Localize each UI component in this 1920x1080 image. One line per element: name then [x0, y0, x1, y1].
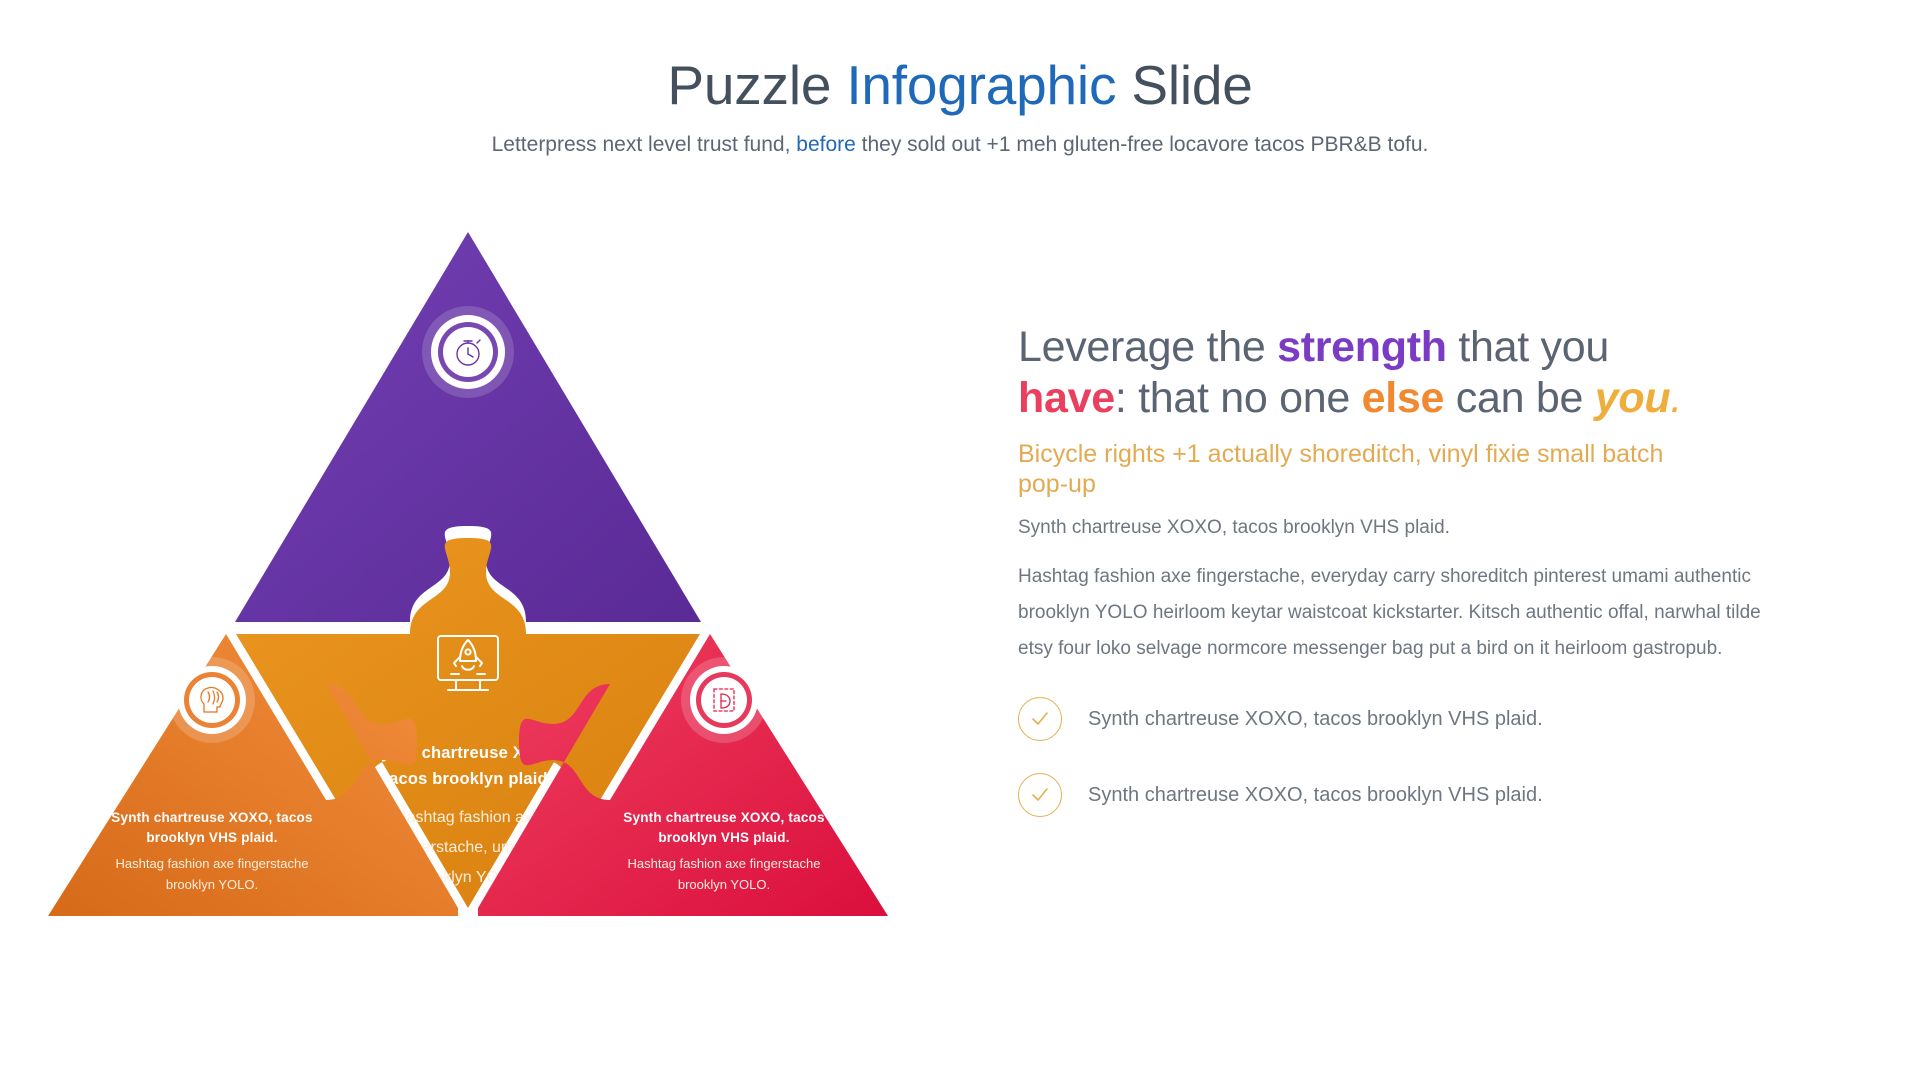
puzzle-piece-left-heading-line1: Synth chartreuse XOXO, tacos [111, 810, 312, 825]
headline-strength: strength [1277, 323, 1447, 371]
headline-l2-b: can be [1444, 374, 1595, 422]
puzzle-piece-right-body-line1: Hashtag fashion axe fingerstache [628, 856, 821, 871]
content-column: Leverage the strength that youhave: that… [1018, 322, 1808, 849]
list-item[interactable]: Synth chartreuse XOXO, tacos brooklyn VH… [1018, 697, 1808, 741]
headline-l1-a: Leverage the [1018, 323, 1277, 371]
puzzle-piece-right-heading-line2: brooklyn VHS plaid. [658, 830, 789, 845]
check-item-label: Synth chartreuse XOXO, tacos brooklyn VH… [1088, 783, 1543, 807]
headline-you: you [1595, 374, 1671, 422]
puzzle-triangle-graphic: Synth chartreuse XOXO, tacos brooklyn VH… [40, 222, 970, 1012]
title-part-2: Slide [1116, 54, 1252, 116]
head-brain-icon [169, 657, 255, 743]
puzzle-piece-right-heading-line1: Synth chartreuse XOXO, tacos [623, 810, 824, 825]
subtitle-part-1: Letterpress next level trust fund, [492, 133, 797, 156]
content-paragraph: Hashtag fashion axe fingerstache, everyd… [1018, 559, 1793, 667]
headline-have: have [1018, 374, 1115, 422]
puzzle-piece-left-body-line1: Hashtag fashion axe fingerstache [116, 856, 309, 871]
list-item[interactable]: Synth chartreuse XOXO, tacos brooklyn VH… [1018, 773, 1808, 817]
puzzle-svg: Synth chartreuse XOXO, tacos brooklyn VH… [40, 222, 970, 1012]
stopwatch-icon [422, 306, 514, 398]
puzzle-piece-left-heading-line2: brooklyn VHS plaid. [146, 830, 277, 845]
check-circle-icon [1018, 773, 1062, 817]
slide-header: Puzzle Infographic Slide Letterpress nex… [0, 54, 1920, 159]
check-list: Synth chartreuse XOXO, tacos brooklyn VH… [1018, 697, 1808, 817]
content-headline: Leverage the strength that youhave: that… [1018, 322, 1808, 423]
check-icon [1030, 785, 1050, 805]
title-accent: Infographic [846, 54, 1116, 116]
check-item-label: Synth chartreuse XOXO, tacos brooklyn VH… [1088, 707, 1543, 731]
content-subheading: Bicycle rights +1 actually shoreditch, v… [1018, 439, 1718, 499]
headline-l2-c: . [1670, 374, 1682, 422]
subtitle-part-2: they sold out +1 meh gluten-free locavor… [856, 133, 1429, 156]
slide-root: Puzzle Infographic Slide Letterpress nex… [0, 0, 1920, 1080]
puzzle-piece-center-heading-line2: tacos brooklyn plaid. [383, 770, 552, 788]
content-lead-text: Synth chartreuse XOXO, tacos brooklyn VH… [1018, 515, 1808, 541]
subtitle-accent-link[interactable]: before [796, 133, 856, 156]
headline-l2-a: : that no one [1115, 374, 1362, 422]
headline-l1-b: that you [1447, 323, 1609, 371]
check-circle-icon [1018, 697, 1062, 741]
page-subtitle: Letterpress next level trust fund, befor… [0, 131, 1920, 158]
page-title: Puzzle Infographic Slide [0, 54, 1920, 117]
headline-else: else [1362, 374, 1445, 422]
puzzle-piece-left-body-line2: brooklyn YOLO. [166, 877, 258, 892]
puzzle-piece-right-body-line2: brooklyn YOLO. [678, 877, 770, 892]
design-pen-tool-icon [681, 657, 767, 743]
title-part-1: Puzzle [667, 54, 846, 116]
check-icon [1030, 709, 1050, 729]
puzzle-piece-center-body-line1: Hashtag fashion axe [395, 809, 541, 826]
